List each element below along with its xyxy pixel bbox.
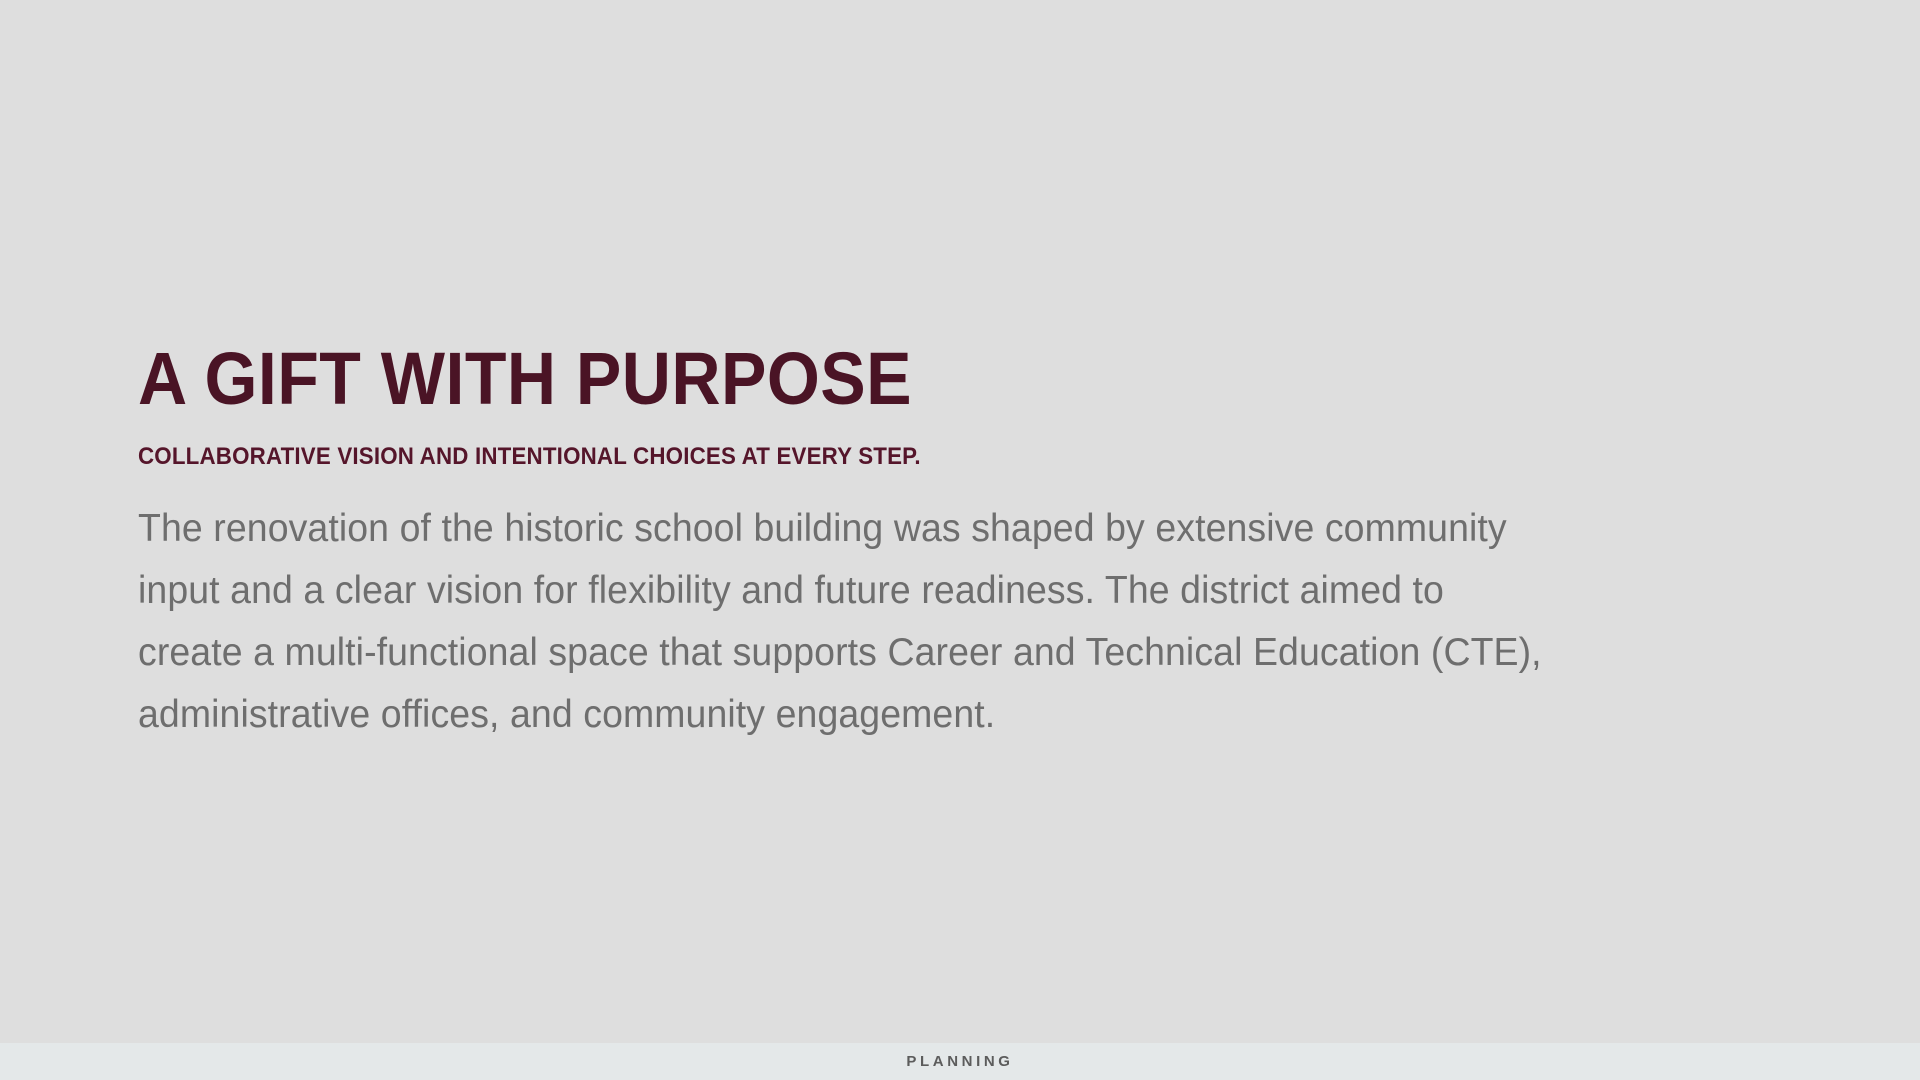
slide-subtitle: COLLABORATIVE VISION AND INTENTIONAL CHO… — [138, 442, 1663, 472]
slide-body-text: The renovation of the historic school bu… — [138, 498, 1559, 746]
footer-bar: PLANNING — [0, 1043, 1920, 1080]
page-title: A GIFT WITH PURPOSE — [138, 340, 1647, 418]
slide-content-block: A GIFT WITH PURPOSE COLLABORATIVE VISION… — [138, 340, 1778, 746]
presentation-slide: A GIFT WITH PURPOSE COLLABORATIVE VISION… — [0, 0, 1920, 1080]
footer-section-label: PLANNING — [906, 1054, 1013, 1069]
